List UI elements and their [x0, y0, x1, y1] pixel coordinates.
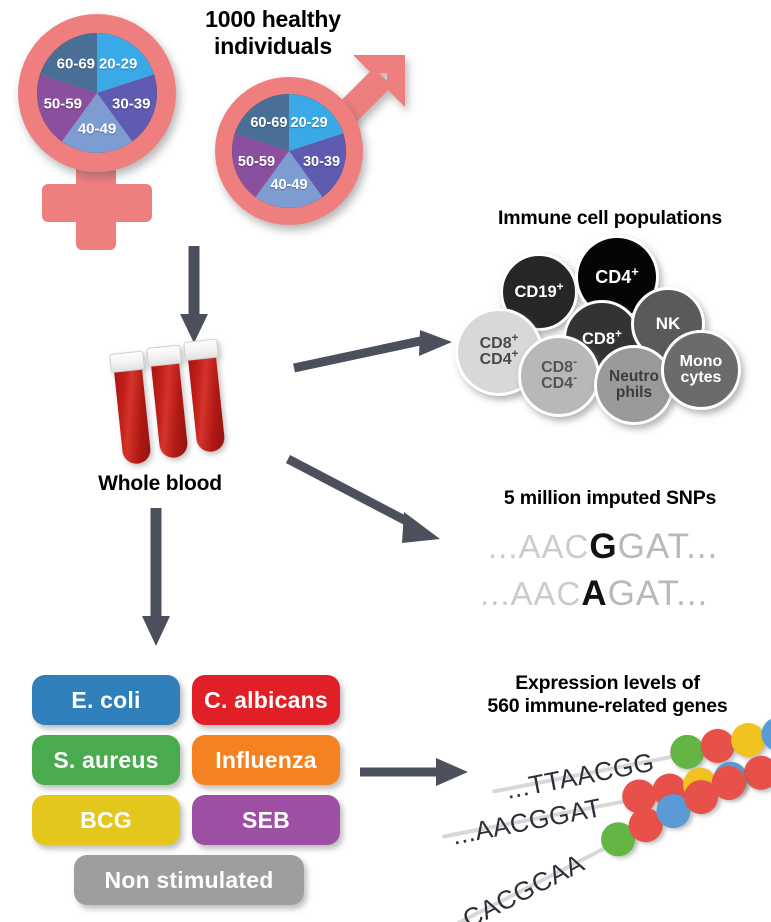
age-label-20-29: 20-29	[291, 115, 328, 131]
stimulus-label: Influenza	[215, 747, 316, 774]
female-symbol-crossbar	[42, 184, 152, 222]
stimulus-label: E. coli	[71, 687, 140, 714]
blood-tube-body	[188, 353, 226, 453]
snp-sequence-row: ...AACAGAT...	[480, 574, 708, 614]
stimulus-e-coli: E. coli	[32, 675, 180, 725]
blood-tube-cap	[183, 339, 219, 361]
arrow-cohort-to-blood	[178, 246, 218, 346]
age-label-50-59: 50-59	[238, 154, 275, 170]
blood-tube-body	[114, 365, 152, 465]
immune-cell-label: Monocytes	[680, 354, 723, 387]
blood-tube	[112, 351, 152, 465]
immune-cell-cd8-cd4: CD8-CD4-	[518, 335, 600, 417]
age-label-40-49: 40-49	[78, 121, 116, 138]
age-label-40-49: 40-49	[270, 177, 307, 193]
immune-cell-label: NK	[656, 315, 681, 332]
gene-strand-group: ...TTAACGG...AACGGAT...CACGCAA	[430, 740, 771, 920]
whole-blood-label: Whole blood	[60, 472, 260, 497]
stimulus-label: Non stimulated	[105, 867, 274, 894]
age-label-30-39: 30-39	[303, 154, 340, 170]
blood-tube-group	[118, 340, 248, 470]
snp-prefix: ...AAC	[488, 528, 589, 565]
stimulus-label: S. aureus	[53, 747, 158, 774]
stimuli-grid: E. coliC. albicansS. aureusInfluenzaBCGS…	[32, 675, 342, 895]
immune-cell-monocytes: Monocytes	[661, 330, 741, 410]
immune-cell-cluster: CD19+CD4+CD8+CD4+CD8+NKCD8-CD4-Neutrophi…	[455, 235, 765, 415]
arrow-blood-to-stimuli	[140, 508, 180, 648]
age-label-50-59: 50-59	[44, 96, 82, 113]
immune-cell-label: CD19+	[514, 284, 563, 301]
immune-cell-label: CD4+	[595, 268, 639, 286]
stimulus-non-stimulated: Non stimulated	[74, 855, 304, 905]
immune-cell-label: Neutrophils	[609, 369, 659, 401]
study-design-figure: 1000 healthy individuals 20-2930-3940-49…	[0, 0, 771, 922]
snp-prefix: ...AAC	[480, 575, 581, 612]
snp-suffix: GAT...	[618, 527, 719, 566]
immune-cell-label: CD8+CD4+	[480, 336, 519, 369]
blood-tube-cap	[146, 345, 182, 367]
blood-tube-body	[151, 359, 189, 459]
page-title: 1000 healthy individuals	[168, 6, 378, 60]
immune-cells-title: Immune cell populations	[455, 207, 765, 230]
age-pie-male: 20-2930-3940-4950-5960-69	[232, 94, 346, 208]
male-symbol: 20-2930-3940-4950-5960-69	[205, 55, 415, 255]
snp-variant-base: G	[589, 527, 617, 566]
age-label-30-39: 30-39	[112, 96, 150, 113]
arrow-blood-to-snps	[286, 455, 451, 550]
snp-sequence-block: ...AACGGAT......AACAGAT...	[470, 527, 760, 617]
gene-strand-sequence: ...CACGCAA	[437, 848, 589, 922]
stimulus-label: C. albicans	[204, 687, 328, 714]
blood-tube	[186, 339, 226, 453]
age-pie-female: 20-2930-3940-4950-5960-69	[37, 33, 157, 153]
female-symbol: 20-2930-3940-4950-5960-69	[10, 14, 190, 254]
blood-tube	[149, 345, 189, 459]
age-label-60-69: 60-69	[250, 115, 287, 131]
immune-cell-label: CD8-CD4-	[541, 360, 577, 393]
snp-sequence-row: ...AACGGAT...	[488, 527, 718, 567]
stimulus-bcg: BCG	[32, 795, 180, 845]
stimulus-influenza: Influenza	[192, 735, 340, 785]
expression-title: Expression levels of 560 immune-related …	[450, 672, 765, 718]
arrow-blood-to-immune	[292, 330, 457, 375]
immune-cell-label: CD8+	[582, 331, 622, 348]
age-label-20-29: 20-29	[99, 55, 137, 72]
stimulus-label: SEB	[242, 807, 290, 834]
age-label-60-69: 60-69	[57, 55, 95, 72]
stimulus-s-aureus: S. aureus	[32, 735, 180, 785]
stimulus-c-albicans: C. albicans	[192, 675, 340, 725]
snps-title: 5 million imputed SNPs	[460, 487, 760, 510]
blood-tube-cap	[109, 351, 145, 373]
stimulus-label: BCG	[80, 807, 132, 834]
stimulus-seb: SEB	[192, 795, 340, 845]
snp-suffix: GAT...	[608, 574, 709, 613]
snp-variant-base: A	[581, 574, 607, 613]
